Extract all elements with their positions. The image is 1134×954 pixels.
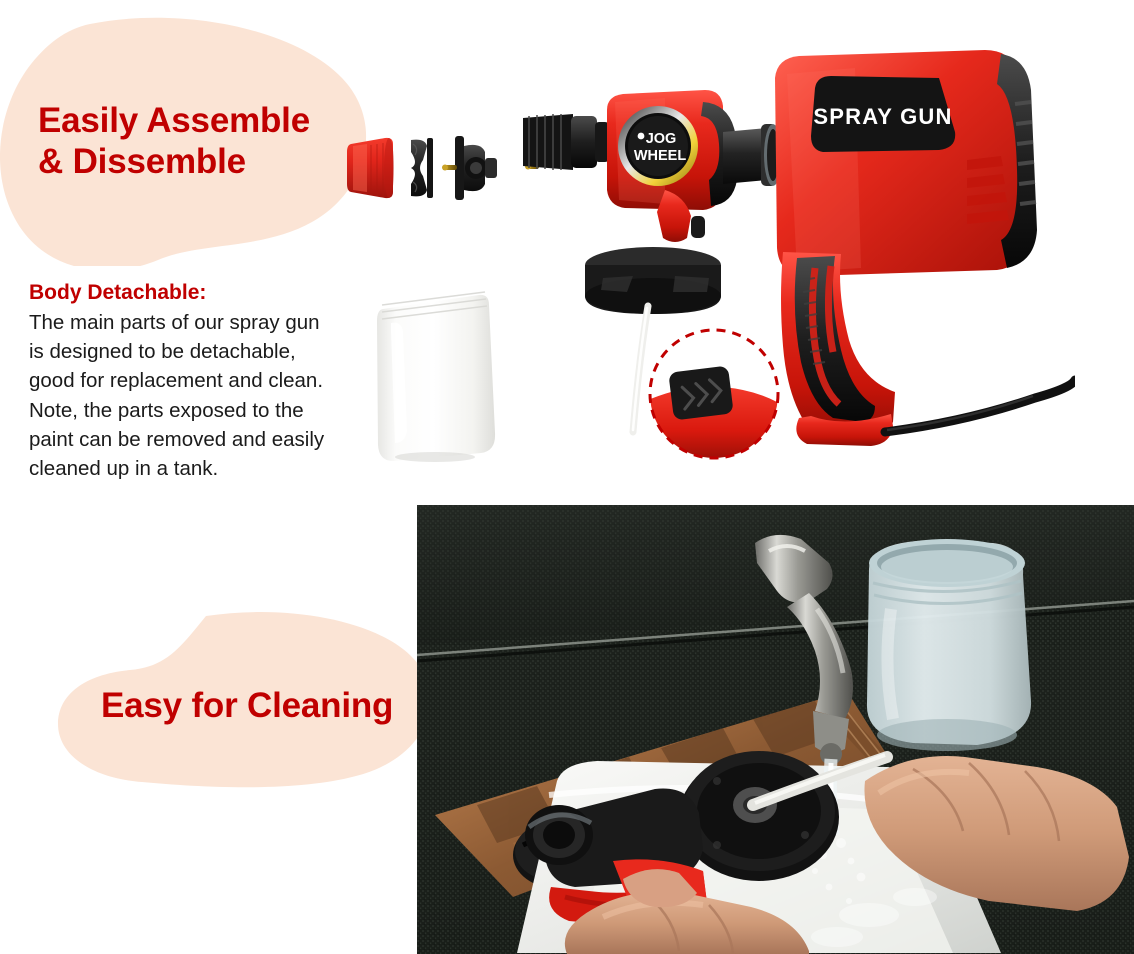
product-banner: Easily Assemble & Dissemble Body Detacha… xyxy=(0,0,1134,954)
pistol-grip xyxy=(781,252,895,446)
jog-wheel-label-line2: WHEEL xyxy=(634,148,687,164)
part-red-ring-cap xyxy=(347,138,394,198)
paint-container xyxy=(357,281,517,466)
nozzle-assembly xyxy=(571,116,609,168)
jog-wheel-label-line1: JOG xyxy=(646,131,677,147)
motor-housing: SPRAY GUN xyxy=(775,50,1037,276)
release-button xyxy=(668,366,733,421)
part-valve-assembly xyxy=(442,136,497,200)
headline-easily-assemble: Easily Assemble & Dissemble xyxy=(38,100,310,183)
body-heading: Body Detachable: xyxy=(29,280,359,306)
gun-front-module: JOG WHEEL xyxy=(607,90,737,210)
release-button-callout xyxy=(645,325,783,463)
body-detachable-block: Body Detachable: The main parts of our s… xyxy=(29,280,359,483)
body-paragraph: The main parts of our spray gun is desig… xyxy=(29,308,359,483)
water-jar xyxy=(867,539,1031,751)
part-nozzle-bracket xyxy=(411,138,433,198)
mid-barrel xyxy=(723,124,782,186)
container-base xyxy=(585,247,721,314)
power-cord xyxy=(885,380,1075,432)
cleaning-photo: JOG WHEEL xyxy=(417,505,1134,954)
ribbed-air-hose xyxy=(523,114,573,170)
spray-gun-badge-label: SPRAY GUN xyxy=(813,104,952,129)
headline-easy-for-cleaning: Easy for Cleaning xyxy=(101,685,393,726)
spray-gun-badge: SPRAY GUN xyxy=(811,76,955,152)
jog-wheel-dial: JOG WHEEL xyxy=(618,106,698,186)
spray-gun-illustration: JOG WHEEL xyxy=(515,40,1075,460)
